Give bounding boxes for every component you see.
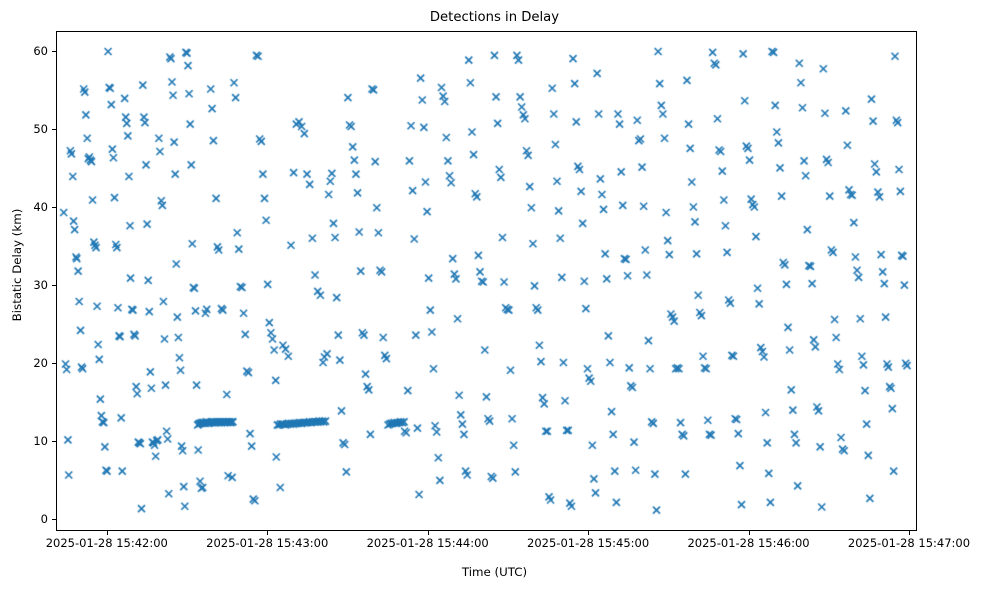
y-tick-label: 60 bbox=[33, 44, 48, 58]
y-tick-mark bbox=[52, 519, 56, 520]
y-tick-label: 20 bbox=[33, 356, 48, 370]
y-tick-label: 10 bbox=[33, 434, 48, 448]
x-tick-label: 2025-01-28 15:42:00 bbox=[46, 536, 168, 550]
x-tick-label: 2025-01-28 15:43:00 bbox=[206, 536, 328, 550]
y-axis-tick-labels: 0102030405060 bbox=[0, 0, 48, 590]
y-tick-mark bbox=[52, 207, 56, 208]
x-tick-mark bbox=[107, 531, 108, 535]
x-tick-mark bbox=[267, 531, 268, 535]
chart-title: Detections in Delay bbox=[0, 10, 989, 26]
x-tick-label: 2025-01-28 15:47:00 bbox=[848, 536, 970, 550]
y-tick-label: 50 bbox=[33, 122, 48, 136]
x-tick-label: 2025-01-28 15:44:00 bbox=[367, 536, 489, 550]
y-tick-label: 40 bbox=[33, 200, 48, 214]
x-tick-label: 2025-01-28 15:46:00 bbox=[687, 536, 809, 550]
x-tick-mark bbox=[428, 531, 429, 535]
y-tick-mark bbox=[52, 51, 56, 52]
x-tick-mark bbox=[909, 531, 910, 535]
x-tick-mark bbox=[749, 531, 750, 535]
y-tick-mark bbox=[52, 285, 56, 286]
y-tick-label: 0 bbox=[41, 512, 48, 526]
scatter-plot-canvas bbox=[57, 32, 918, 532]
y-tick-label: 30 bbox=[33, 278, 48, 292]
x-tick-mark bbox=[588, 531, 589, 535]
x-axis-label: Time (UTC) bbox=[0, 565, 989, 579]
y-tick-mark bbox=[52, 363, 56, 364]
x-tick-label: 2025-01-28 15:45:00 bbox=[527, 536, 649, 550]
y-tick-mark bbox=[52, 129, 56, 130]
y-axis-label: Bistatic Delay (km) bbox=[10, 135, 24, 395]
plot-axes bbox=[56, 31, 917, 531]
matplotlib-figure: Detections in Delay 0102030405060 2025-0… bbox=[0, 0, 989, 590]
y-tick-mark bbox=[52, 441, 56, 442]
